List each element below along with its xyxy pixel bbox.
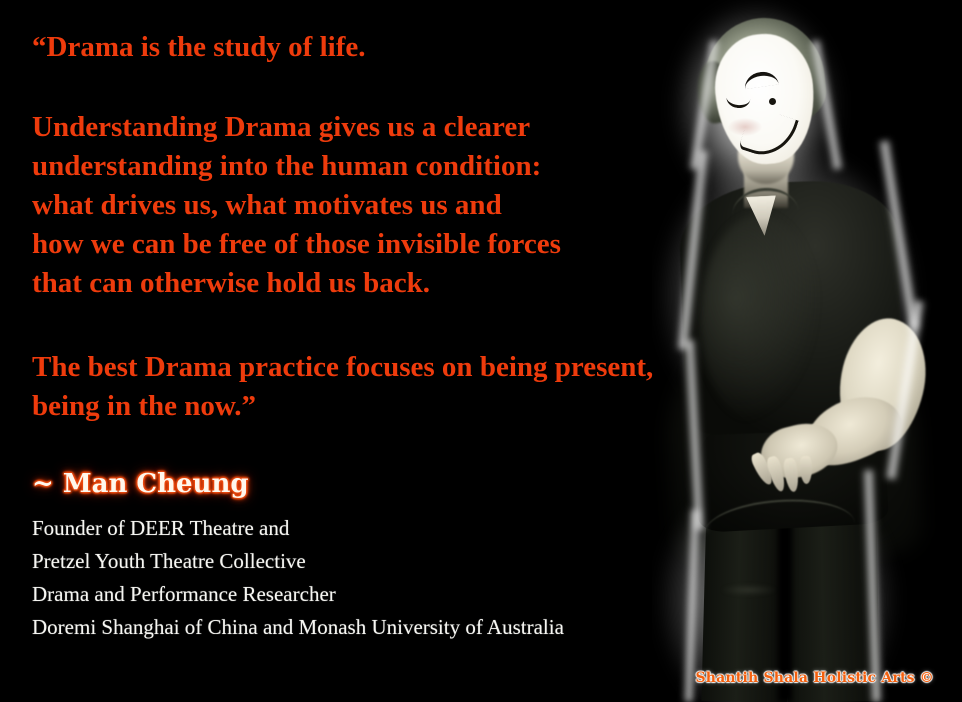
quote-body: Understanding Drama gives us a clearer u… (32, 108, 561, 303)
credential-line: Pretzel Youth Theatre Collective (32, 551, 306, 572)
credential-line: Drama and Performance Researcher (32, 584, 336, 605)
credential-line: Doremi Shanghai of China and Monash Univ… (32, 617, 564, 638)
author-name: ~ Man Cheung (32, 468, 249, 500)
copyright-watermark: Shantih Shala Holistic Arts © (695, 670, 934, 686)
quote-opening-line: “Drama is the study of life. (32, 28, 365, 67)
text-layer: “Drama is the study of life. Understandi… (0, 0, 962, 702)
quote-poster: “Drama is the study of life. Understandi… (0, 0, 962, 702)
quote-closing: The best Drama practice focuses on being… (32, 348, 653, 426)
credential-line: Founder of DEER Theatre and (32, 518, 289, 539)
